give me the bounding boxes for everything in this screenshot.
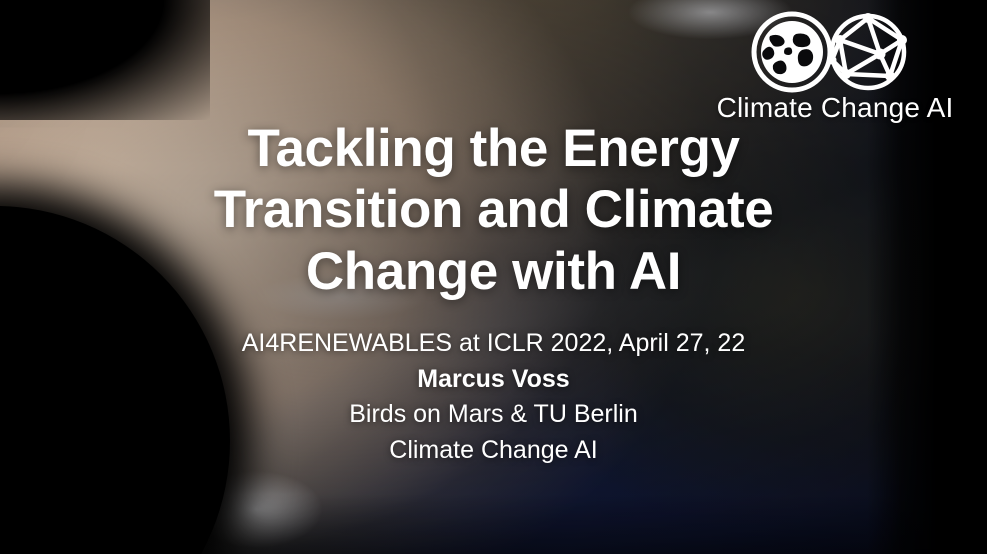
- title-slide: Climate Change AI Tackling the EnergyTra…: [0, 0, 987, 554]
- title-line: Change with AI: [96, 241, 891, 302]
- logo-mark: [740, 10, 930, 94]
- page-title: Tackling the EnergyTransition and Climat…: [96, 118, 891, 302]
- subtitle-block: AI4RENEWABLES at ICLR 2022, April 27, 22…: [96, 326, 891, 468]
- subtitle-line: Climate Change AI: [96, 433, 891, 469]
- subtitle-line: AI4RENEWABLES at ICLR 2022, April 27, 22: [96, 326, 891, 362]
- subtitle-line: Birds on Mars & TU Berlin: [96, 397, 891, 433]
- speaker-name: Marcus Voss: [96, 362, 891, 398]
- climate-change-ai-logo: Climate Change AI: [705, 10, 965, 124]
- title-line: Transition and Climate: [96, 179, 891, 240]
- space-black-top-left: [0, 0, 210, 120]
- space-black-bottom: [0, 494, 987, 554]
- slide-content: Tackling the EnergyTransition and Climat…: [0, 118, 987, 468]
- globe-icon: [754, 14, 830, 90]
- title-line: Tackling the Energy: [96, 118, 891, 179]
